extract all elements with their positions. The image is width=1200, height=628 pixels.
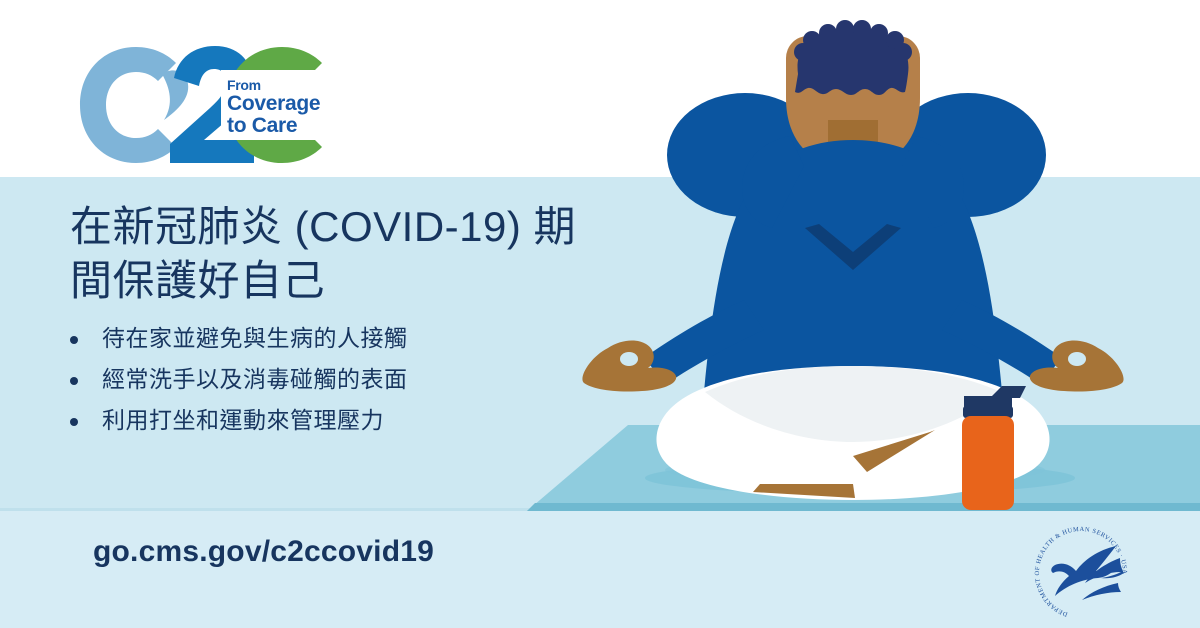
url-link[interactable]: go.cms.gov/c2ccovid19	[93, 535, 434, 569]
c2c-logo[interactable]: From Coverage to Care	[78, 44, 338, 166]
logo-tagline-line2: Coverage	[227, 93, 320, 114]
list-item-label: 利用打坐和運動來管理壓力	[102, 407, 384, 433]
bullet-dot-icon	[70, 336, 78, 344]
page-title: 在新冠肺炎 (COVID-19) 期 間保護好自己	[70, 200, 630, 308]
hhs-seal: DEPARTMENT OF HEALTH & HUMAN SERVICES · …	[1028, 520, 1134, 622]
list-item: 利用打坐和運動來管理壓力	[62, 409, 582, 432]
logo-tagline: From Coverage to Care	[227, 78, 320, 136]
poster-canvas: From Coverage to Care 在新冠肺炎 (COVID-19) 期…	[0, 0, 1200, 628]
list-item: 經常洗手以及消毒碰觸的表面	[62, 368, 582, 391]
logo-tagline-line3: to Care	[227, 115, 320, 136]
logo-tagline-line1: From	[227, 78, 320, 92]
bullet-dot-icon	[70, 377, 78, 385]
list-item: 待在家並避免與生病的人接觸	[62, 327, 582, 350]
tips-list: 待在家並避免與生病的人接觸 經常洗手以及消毒碰觸的表面 利用打坐和運動來管理壓力	[62, 327, 582, 450]
list-item-label: 待在家並避免與生病的人接觸	[102, 325, 408, 351]
headline-line-1: 在新冠肺炎 (COVID-19) 期	[70, 200, 630, 254]
list-item-label: 經常洗手以及消毒碰觸的表面	[102, 366, 408, 392]
logo-c-left	[80, 47, 176, 163]
hhs-seal-bird-icon	[1051, 546, 1124, 600]
bullet-dot-icon	[70, 418, 78, 426]
headline-line-2: 間保護好自己	[70, 254, 630, 308]
background-band-bottom	[0, 511, 1200, 628]
